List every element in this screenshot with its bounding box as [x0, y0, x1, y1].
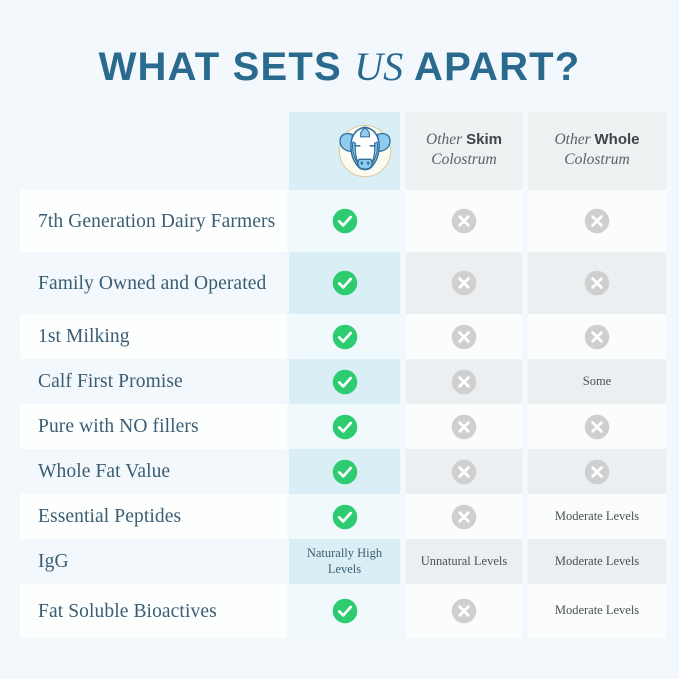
cross-circle-icon — [450, 458, 478, 486]
cell-note-text: Moderate Levels — [549, 509, 645, 524]
cross-circle-icon — [583, 207, 611, 235]
table-row: IgGNaturally High LevelsUnnatural Levels… — [20, 539, 666, 584]
check-circle-icon — [331, 413, 359, 441]
table-row: Pure with NO fillers — [20, 404, 666, 449]
cross-circle-icon — [450, 503, 478, 531]
cell-whole: Moderate Levels — [528, 584, 666, 638]
cell-whole — [528, 252, 666, 314]
cell-skim — [406, 494, 522, 539]
cross-circle-icon — [450, 207, 478, 235]
check-circle-icon — [331, 597, 359, 625]
header-whole-prefix: Other — [554, 131, 594, 148]
cell-note-text: Unnatural Levels — [415, 554, 513, 569]
table-row: Fat Soluble Bioactives Moderate Levels — [20, 584, 666, 638]
header-skim-prefix: Other — [426, 131, 466, 148]
table-row: Essential Peptides Moderate Levels — [20, 494, 666, 539]
cell-us — [289, 449, 400, 494]
cell-us — [289, 314, 400, 359]
cell-skim: Unnatural Levels — [406, 539, 522, 584]
comparison-page: WHAT SETS US APART? Other Skim Colostrum… — [0, 0, 679, 679]
row-label: Whole Fat Value — [20, 449, 287, 494]
table-row: 1st Milking — [20, 314, 666, 359]
cell-skim — [406, 314, 522, 359]
check-circle-icon — [331, 503, 359, 531]
header-label-spacer — [20, 112, 287, 190]
row-label: Pure with NO fillers — [20, 404, 287, 449]
check-circle-icon — [331, 269, 359, 297]
comparison-table: Other Skim Colostrum Other Whole Colostr… — [20, 112, 666, 638]
cross-circle-icon — [450, 269, 478, 297]
cell-us — [289, 252, 400, 314]
cross-circle-icon — [450, 368, 478, 396]
cell-whole: Moderate Levels — [528, 539, 666, 584]
table-row: Family Owned and Operated — [20, 252, 666, 314]
cross-circle-icon — [583, 269, 611, 297]
cell-whole — [528, 314, 666, 359]
check-circle-icon — [331, 323, 359, 351]
cell-us: Naturally High Levels — [289, 539, 400, 584]
cross-circle-icon — [583, 458, 611, 486]
row-label: 1st Milking — [20, 314, 287, 359]
page-title-lead: WHAT SETS — [99, 45, 355, 89]
cell-whole: Moderate Levels — [528, 494, 666, 539]
cell-skim — [406, 449, 522, 494]
cell-us — [289, 190, 400, 252]
cross-circle-icon — [583, 323, 611, 351]
cell-note-text: Some — [577, 374, 617, 389]
cell-note-text: Naturally High Levels — [289, 546, 400, 577]
header-cell-other-skim: Other Skim Colostrum — [406, 112, 522, 190]
check-circle-icon — [331, 368, 359, 396]
cross-circle-icon — [583, 413, 611, 441]
cross-circle-icon — [450, 413, 478, 441]
table-row: Whole Fat Value — [20, 449, 666, 494]
row-label: Essential Peptides — [20, 494, 287, 539]
row-label: IgG — [20, 539, 287, 584]
row-label: Calf First Promise — [20, 359, 287, 404]
cell-whole — [528, 449, 666, 494]
header-whole-suffix: Colostrum — [564, 151, 629, 168]
cell-us — [289, 359, 400, 404]
cell-us — [289, 584, 400, 638]
cross-circle-icon — [450, 323, 478, 351]
table-row: Calf First Promise Some — [20, 359, 666, 404]
cell-skim — [406, 190, 522, 252]
check-circle-icon — [331, 207, 359, 235]
cell-skim — [406, 359, 522, 404]
header-cell-us — [289, 112, 400, 190]
header-other-whole-text: Other Whole Colostrum — [554, 130, 639, 169]
header-skim-suffix: Colostrum — [431, 151, 496, 168]
page-title: WHAT SETS US APART? — [0, 43, 679, 90]
cell-skim — [406, 404, 522, 449]
cell-skim — [406, 252, 522, 314]
cell-note-text: Moderate Levels — [549, 554, 645, 569]
cell-whole: Some — [528, 359, 666, 404]
check-circle-icon — [331, 458, 359, 486]
header-skim-emphasis: Skim — [466, 131, 502, 148]
table-row: 7th Generation Dairy Farmers — [20, 190, 666, 252]
row-label: 7th Generation Dairy Farmers — [20, 190, 287, 252]
row-label: Family Owned and Operated — [20, 252, 287, 314]
page-title-tail: APART? — [403, 45, 580, 89]
header-whole-emphasis: Whole — [595, 131, 640, 148]
header-cell-other-whole: Other Whole Colostrum — [528, 112, 666, 190]
cell-us — [289, 404, 400, 449]
cell-whole — [528, 190, 666, 252]
page-title-emphasis: US — [354, 44, 403, 89]
table-body: 7th Generation Dairy Farmers Family Owne… — [20, 190, 666, 638]
cell-note-text: Moderate Levels — [549, 603, 645, 618]
cell-skim — [406, 584, 522, 638]
cell-whole — [528, 404, 666, 449]
header-other-skim-text: Other Skim Colostrum — [426, 130, 502, 169]
cell-us — [289, 494, 400, 539]
cross-circle-icon — [450, 597, 478, 625]
row-label: Fat Soluble Bioactives — [20, 584, 287, 638]
table-header-row: Other Skim Colostrum Other Whole Colostr… — [20, 112, 666, 190]
